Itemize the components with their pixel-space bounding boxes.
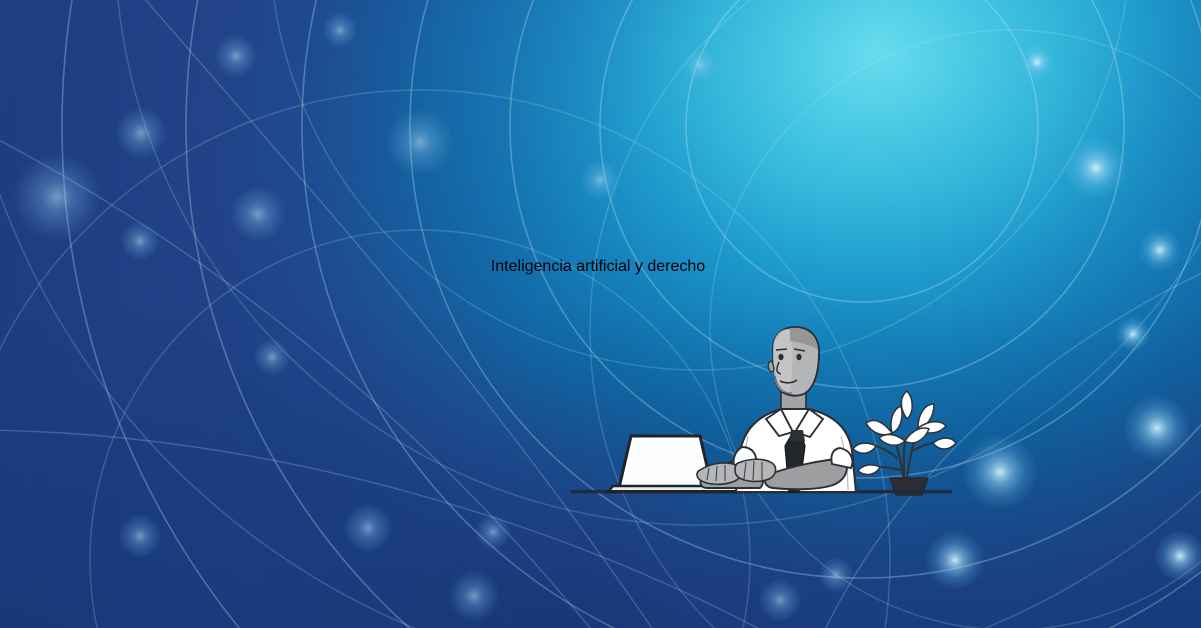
plant bbox=[853, 391, 956, 495]
banner-title: Inteligencia artificial y derecho bbox=[298, 258, 898, 276]
banner-canvas: Inteligencia artificial y derecho bbox=[0, 0, 1201, 628]
title-line-1: Inteligencia artificial bbox=[491, 258, 631, 275]
illustration-man-working-on-laptop bbox=[570, 327, 956, 495]
network-pattern bbox=[0, 0, 1201, 628]
title-line-2: y derecho bbox=[635, 258, 705, 275]
network-nodes bbox=[13, 12, 1201, 622]
network-arcs bbox=[0, 0, 1201, 628]
